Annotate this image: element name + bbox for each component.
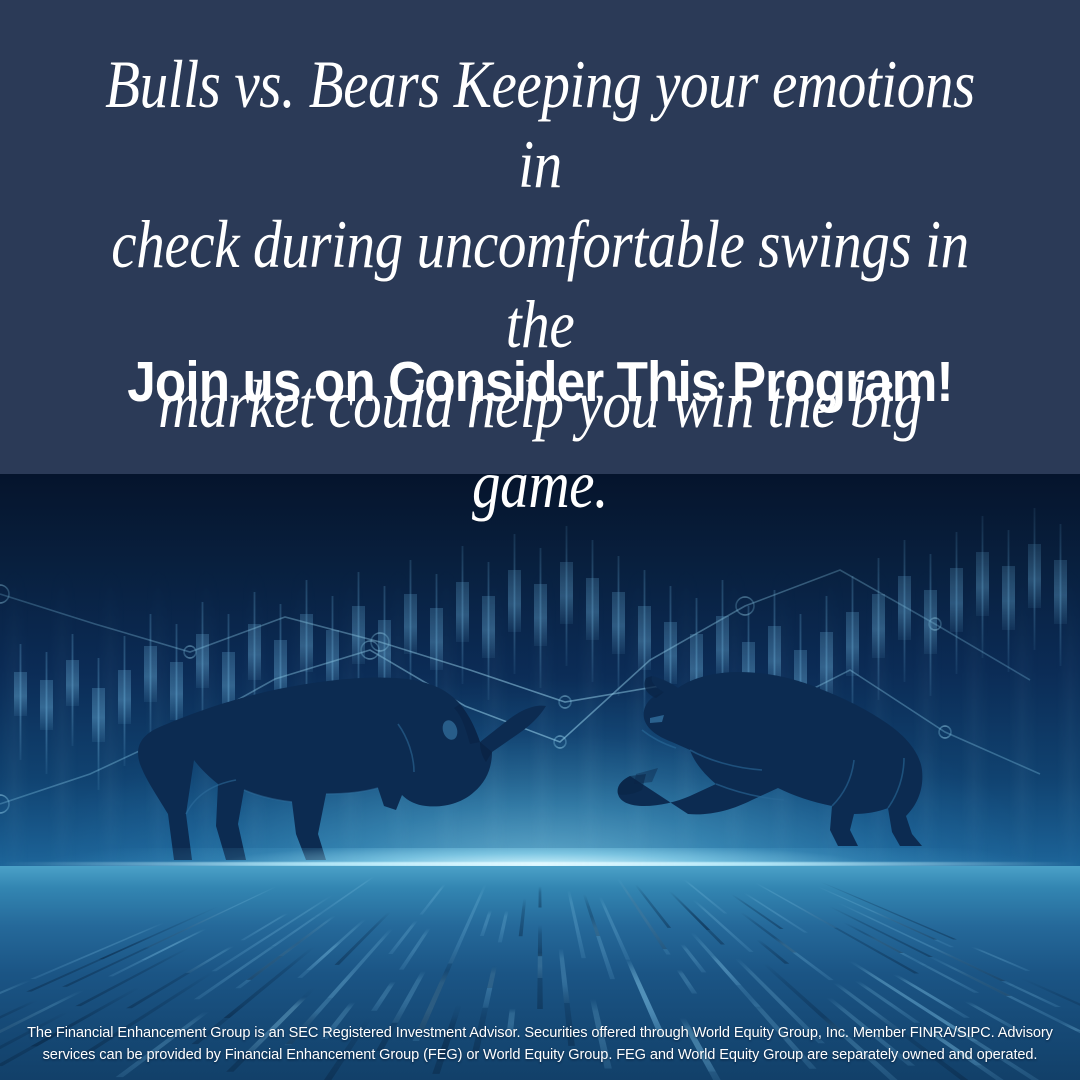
artwork-panel — [0, 474, 1080, 1080]
disclaimer-line-1: The Financial Enhancement Group is an SE… — [27, 1022, 1053, 1044]
poster-canvas: Bulls vs. Bears Keeping your emotions in… — [0, 0, 1080, 1080]
page-title: Bulls vs. Bears Keeping your emotions in… — [86, 44, 993, 524]
header-band: Bulls vs. Bears Keeping your emotions in… — [0, 0, 1080, 474]
disclaimer-line-2: services can be provided by Financial En… — [43, 1044, 1038, 1066]
bear-silhouette — [612, 664, 972, 849]
bull-silhouette — [78, 664, 548, 864]
subheadline: Join us on Consider This Program! — [54, 350, 1026, 414]
legal-disclaimer: The Financial Enhancement Group is an SE… — [0, 1008, 1080, 1080]
